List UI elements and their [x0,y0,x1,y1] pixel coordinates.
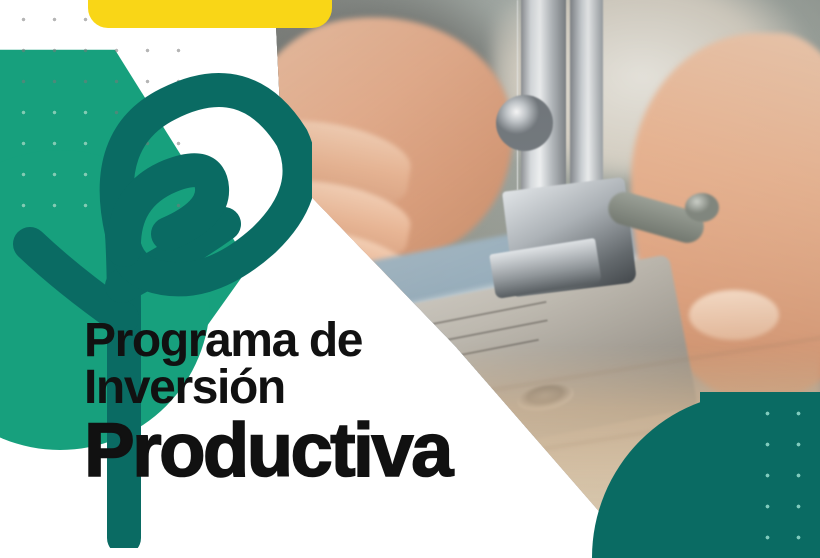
yellow-tab-shape [88,0,332,28]
page-title: Programa de Inversión Productiva [84,318,554,488]
dot-grid-bottom-right-icon [752,398,820,558]
headline-line-1: Programa de [84,318,554,365]
headline-line-3: Productiva [84,415,554,488]
headline-line-2: Inversión [84,365,554,412]
poster-canvas: Programa de Inversión Productiva [0,0,820,558]
